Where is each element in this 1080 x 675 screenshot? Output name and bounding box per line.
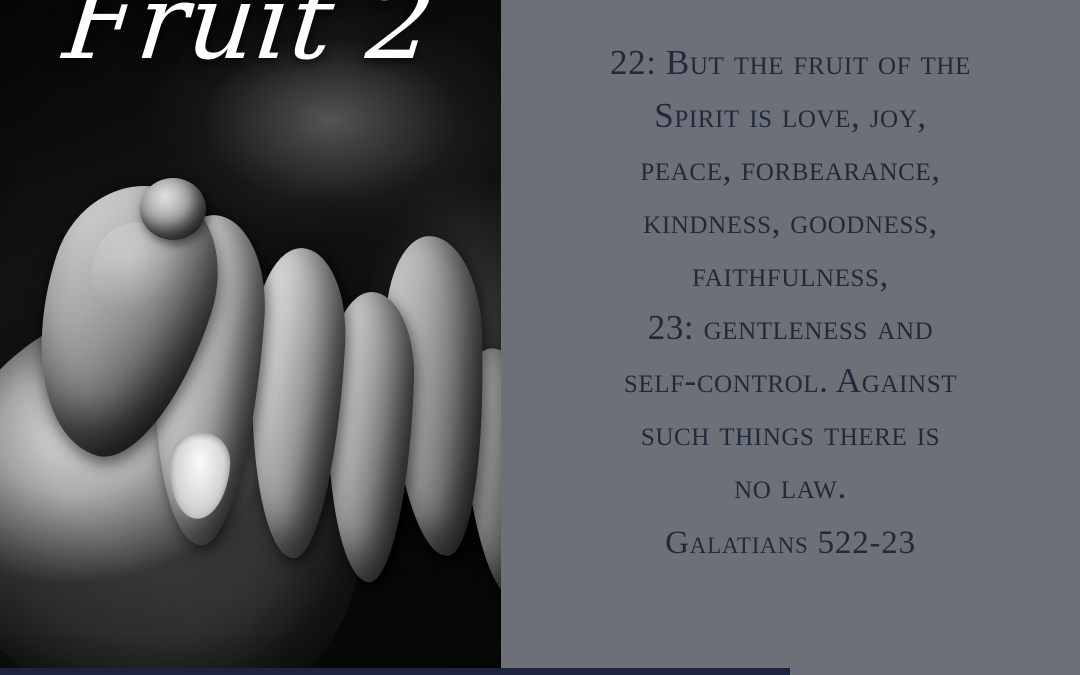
scripture-reference: Galatians 522-23 bbox=[526, 517, 1056, 570]
photo-knuckle bbox=[140, 178, 206, 240]
scripture-line: self-control. Against bbox=[526, 354, 1056, 407]
scripture-line: kindness, goodness, bbox=[526, 195, 1056, 248]
scripture-line: 22: But the fruit of the bbox=[526, 36, 1056, 89]
scripture-line: such things there is bbox=[526, 407, 1056, 460]
bottom-accent-bar bbox=[0, 668, 790, 675]
scripture-line: faithfulness, bbox=[526, 248, 1056, 301]
scripture-line: Spirit is love, joy, bbox=[526, 89, 1056, 142]
scripture-pane: 22: But the fruit of the Spirit is love,… bbox=[501, 0, 1080, 675]
scripture-line: peace, forbearance, bbox=[526, 142, 1056, 195]
praying-hands-image bbox=[0, 0, 501, 675]
scripture-line: 23: gentleness and bbox=[526, 301, 1056, 354]
hands-photo-pane: Fruit 2 bbox=[0, 0, 501, 675]
scripture-poster: Fruit 2 22: But the fruit of the Spirit … bbox=[0, 0, 1080, 675]
scripture-text-block: 22: But the fruit of the Spirit is love,… bbox=[526, 0, 1056, 570]
scripture-line: no law. bbox=[526, 460, 1056, 513]
